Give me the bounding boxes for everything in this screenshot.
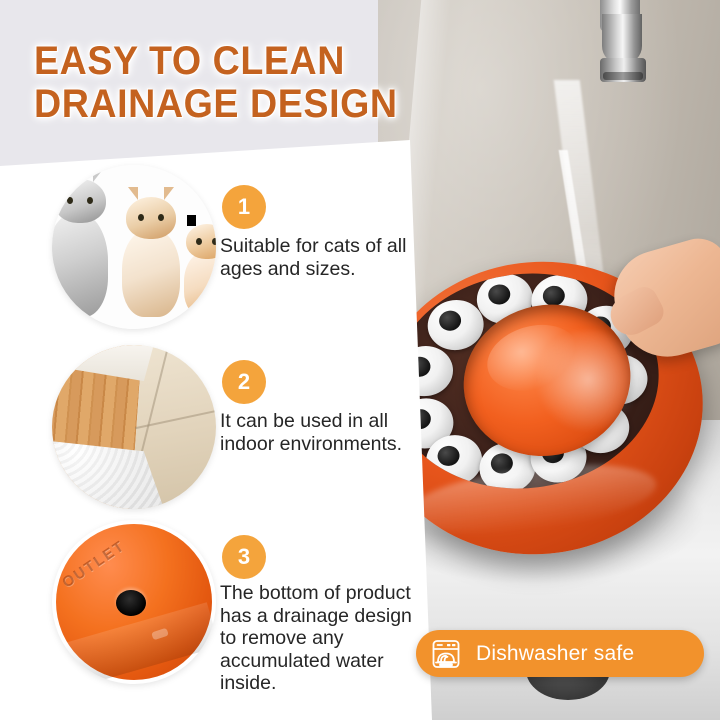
title-line-1: EASY TO CLEAN (34, 40, 410, 83)
feature-thumbnail-outlet: OUTLET (52, 520, 216, 684)
feature-badge-3: 3 (222, 535, 266, 579)
dishwasher-safe-label: Dishwasher safe (476, 642, 634, 666)
feature-text-2: It can be used in all indoor environment… (220, 410, 420, 455)
title-line-2: DRAINAGE DESIGN (34, 83, 410, 126)
dishwasher-safe-badge: Dishwasher safe (416, 630, 704, 677)
feature-badge-2: 2 (222, 360, 266, 404)
feature-thumbnail-floors (52, 345, 216, 509)
cat-kitten (180, 219, 216, 317)
feature-text-1: Suitable for cats of all ages and sizes. (220, 235, 420, 280)
faucet-neck (602, 14, 642, 64)
faucet-aerator (600, 58, 646, 82)
feature-thumbnail-cats (52, 165, 216, 329)
feature-text-3: The bottom of product has a drainage des… (220, 582, 420, 695)
feature-badge-1: 1 (222, 185, 266, 229)
dishwasher-icon (430, 638, 462, 670)
three-cats-photo (52, 165, 216, 329)
cat-large (52, 167, 120, 317)
product-base-outlet-photo: OUTLET (56, 524, 212, 680)
drain-hole (116, 590, 146, 616)
promo-canvas: EASY TO CLEAN DRAINAGE DESIGN (0, 0, 720, 720)
cat-medium (116, 191, 190, 317)
page-title: EASY TO CLEAN DRAINAGE DESIGN (34, 40, 434, 126)
water-splash (528, 330, 648, 440)
